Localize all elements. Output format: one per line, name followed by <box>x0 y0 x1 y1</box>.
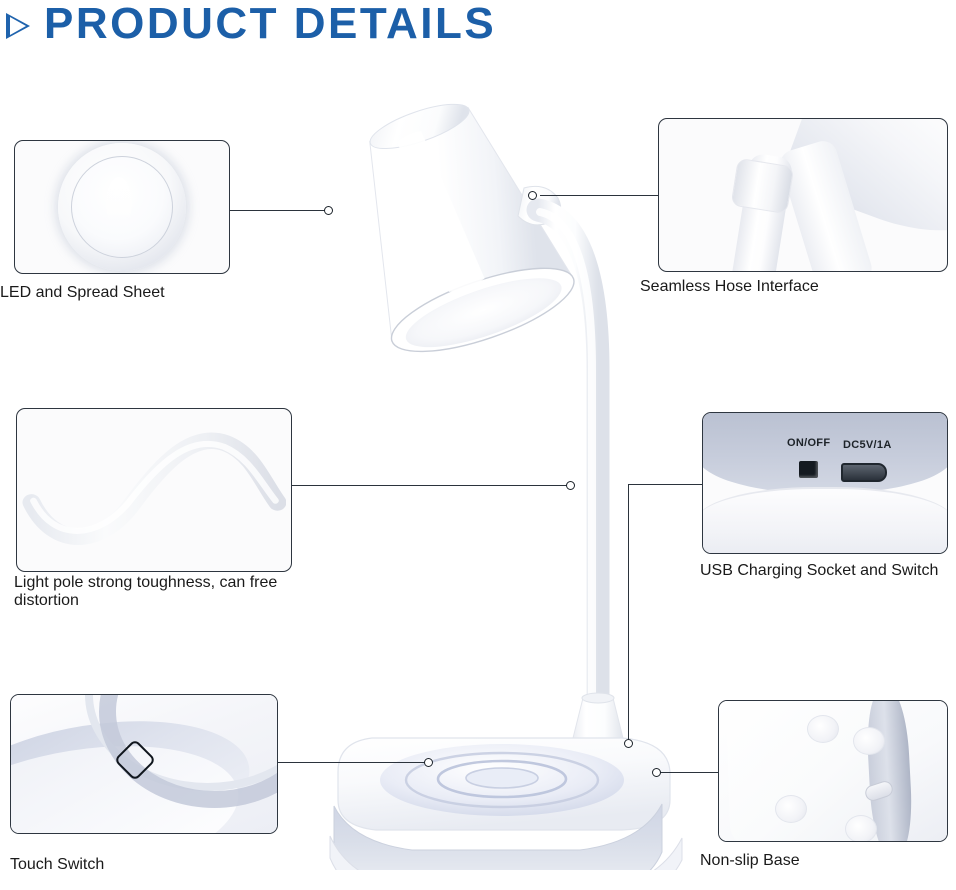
flexible-pole-photo <box>17 409 291 571</box>
lead-line-usb-v <box>628 484 629 744</box>
callout-usb-charging-socket-switch: ON/OFF DC5V/1A <box>702 412 948 554</box>
micro-usb-port-icon <box>841 463 887 482</box>
anchor-dot-base <box>652 768 661 777</box>
callout-label-led-spread-sheet: LED and Spread Sheet <box>0 284 300 302</box>
callout-led-spread-sheet <box>14 140 230 274</box>
page-header: PRODUCT DETAILS <box>0 0 956 62</box>
rubber-pad-icon <box>853 727 885 755</box>
callout-label-seamless-hose-interface: Seamless Hose Interface <box>640 278 956 296</box>
rubber-pad-icon <box>775 795 807 823</box>
callout-frame: ON/OFF DC5V/1A <box>702 412 948 554</box>
callout-frame <box>10 694 278 834</box>
usb-port-label: DC5V/1A <box>843 439 892 451</box>
triangle-right-icon <box>6 13 30 39</box>
rubber-pad-icon <box>807 715 839 743</box>
usb-switch-label: ON/OFF <box>787 437 830 449</box>
callout-frame <box>718 700 948 842</box>
page-title: PRODUCT DETAILS <box>44 0 496 49</box>
callout-touch-switch <box>10 694 278 834</box>
hose-joint-photo <box>659 119 947 271</box>
power-switch-icon <box>799 461 818 478</box>
lead-line-touch <box>278 762 428 763</box>
lead-line-base <box>660 772 718 773</box>
product-image <box>250 70 720 870</box>
anchor-dot-led <box>324 206 333 215</box>
non-slip-base-photo <box>719 701 947 841</box>
callout-label-usb-charging-socket-switch: USB Charging Socket and Switch <box>700 562 950 580</box>
touch-switch-photo <box>11 695 277 833</box>
rubber-pad-icon <box>845 815 877 842</box>
callout-label-touch-switch: Touch Switch <box>10 856 278 874</box>
callout-frame <box>658 118 948 272</box>
callout-non-slip-base <box>718 700 948 842</box>
lead-line-pole <box>292 485 570 486</box>
callout-frame <box>14 140 230 274</box>
lead-line-led <box>230 210 328 211</box>
callout-label-light-pole-toughness: Light pole strong toughness, can free di… <box>14 574 344 610</box>
callout-light-pole-toughness <box>16 408 292 572</box>
anchor-dot-pole <box>566 481 575 490</box>
anchor-dot-touch <box>424 758 433 767</box>
lead-line-hose <box>540 195 658 196</box>
callout-label-non-slip-base: Non-slip Base <box>700 852 950 870</box>
callout-seamless-hose-interface <box>658 118 948 272</box>
lead-line-usb-h1 <box>628 484 702 485</box>
anchor-dot-hose <box>528 191 537 200</box>
led-diffuser-photo <box>15 141 229 273</box>
anchor-dot-usb <box>624 739 633 748</box>
callout-frame <box>16 408 292 572</box>
usb-panel-photo: ON/OFF DC5V/1A <box>703 413 947 553</box>
